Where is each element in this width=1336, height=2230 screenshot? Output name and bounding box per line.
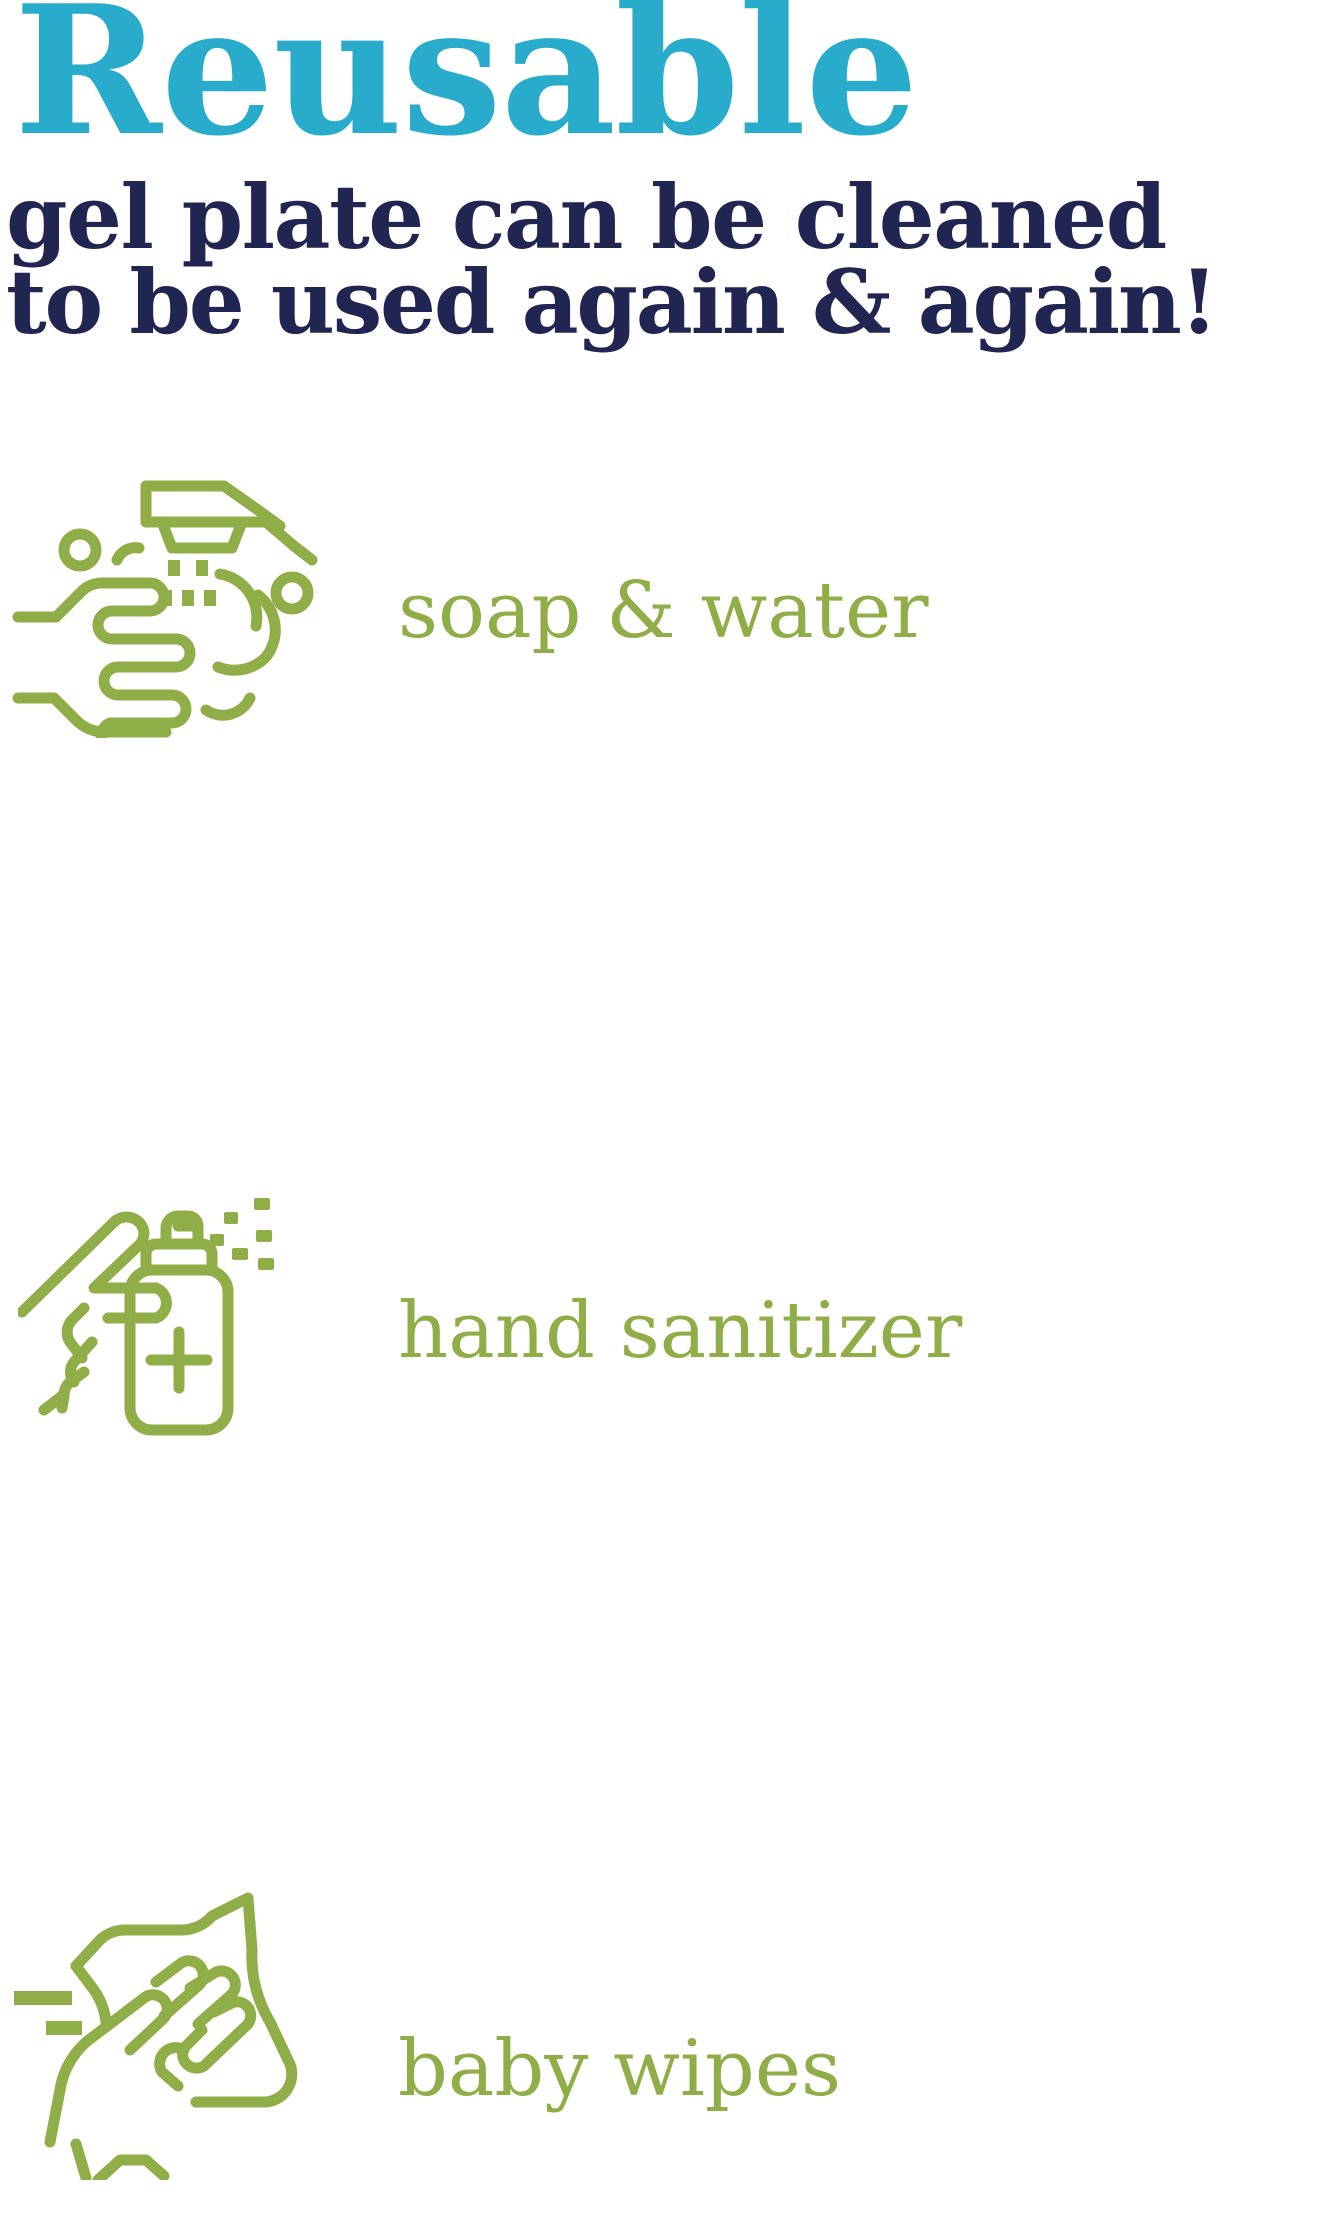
method-label-soap-water: soap & water	[398, 572, 929, 650]
page-subtitle: gel plate can be cleaned to be used agai…	[6, 172, 1330, 347]
method-label-hand-sanitizer: hand sanitizer	[398, 1292, 962, 1370]
wiping-cloth-icon	[6, 1888, 336, 2180]
method-label-baby-wipes: baby wipes	[398, 2030, 841, 2108]
page-subtitle-line-2: to be used again & again!	[6, 257, 1330, 348]
list-item: soap & water	[0, 440, 1336, 790]
cleaning-methods-list: soap & water	[0, 440, 1336, 1490]
page-title: Reusable	[14, 0, 1014, 165]
list-item: hand sanitizer	[0, 1170, 1336, 1520]
hand-sanitizer-icon	[18, 1182, 308, 1452]
list-item: baby wipes	[0, 1880, 1336, 2230]
hand-washing-icon	[6, 462, 336, 738]
reusable-gel-plate-infographic: Reusable gel plate can be cleaned to be …	[0, 0, 1336, 1487]
